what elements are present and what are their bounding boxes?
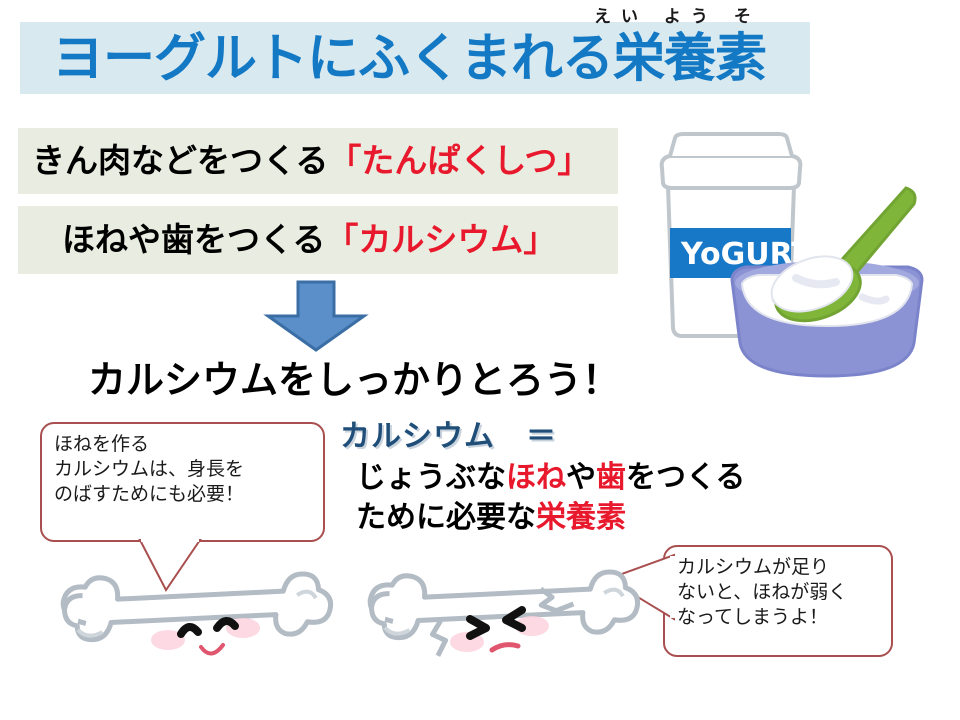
band-red-text-1: 「たんぱくしつ」 (328, 141, 590, 180)
bone-character-sad (352, 558, 672, 713)
down-arrow-icon (263, 280, 369, 352)
headline-text: カルシウムをしっかりとろう！ (88, 349, 620, 404)
bubble-right-line-2: ないと、ほねが弱く (677, 580, 881, 605)
slide-root: えい よう そ ヨーグルトにふくまれる栄養素 きん肉などをつくる「たんぱくしつ」… (0, 0, 960, 720)
yogurt-illustration: YoGURT (640, 128, 950, 390)
nutrient-band-calcium: ほねや歯をつくる「カルシウム」 (18, 206, 618, 274)
def2-seg1: 栄養素 (536, 500, 626, 535)
band-black-text-1: きん肉などをつくる (32, 141, 328, 180)
bubble-left-line-3: のばすためにも必要！ (54, 482, 313, 507)
bubble-left-line-2: カルシウムは、身長を (54, 457, 313, 482)
bubble-right-line-3: なってしまうよ！ (677, 605, 881, 630)
def1-seg3: 歯 (596, 460, 626, 495)
bone-character-happy (45, 560, 365, 715)
bubble-right-line-1: カルシウムが足り (677, 555, 881, 580)
def1-seg2: や (566, 460, 596, 495)
speech-bubble-right: カルシウムが足り ないと、ほねが弱く なってしまうよ！ (663, 545, 893, 657)
def1-seg4: をつくる (626, 460, 745, 495)
def2-seg0: ために必要な (356, 500, 536, 535)
nutrient-band-protein: きん肉などをつくる「たんぱくしつ」 (18, 128, 618, 194)
band-red-text-2: 「カルシウム」 (325, 220, 556, 259)
def1-seg0: じょうぶな (356, 460, 506, 495)
bubble-left-line-1: ほねを作る (54, 432, 313, 457)
definition-line-2: ために必要な栄養素 (356, 492, 626, 536)
speech-bubble-left: ほねを作る カルシウムは、身長を のばすためにも必要！ (40, 422, 325, 542)
page-title: ヨーグルトにふくまれる栄養素 (52, 24, 782, 94)
band-black-text-2: ほねや歯をつくる (62, 220, 325, 259)
def1-seg1: ほね (506, 460, 566, 495)
definition-line-1: じょうぶなほねや歯をつくる (356, 452, 745, 496)
definition-term: カルシウム ＝ (340, 411, 557, 455)
